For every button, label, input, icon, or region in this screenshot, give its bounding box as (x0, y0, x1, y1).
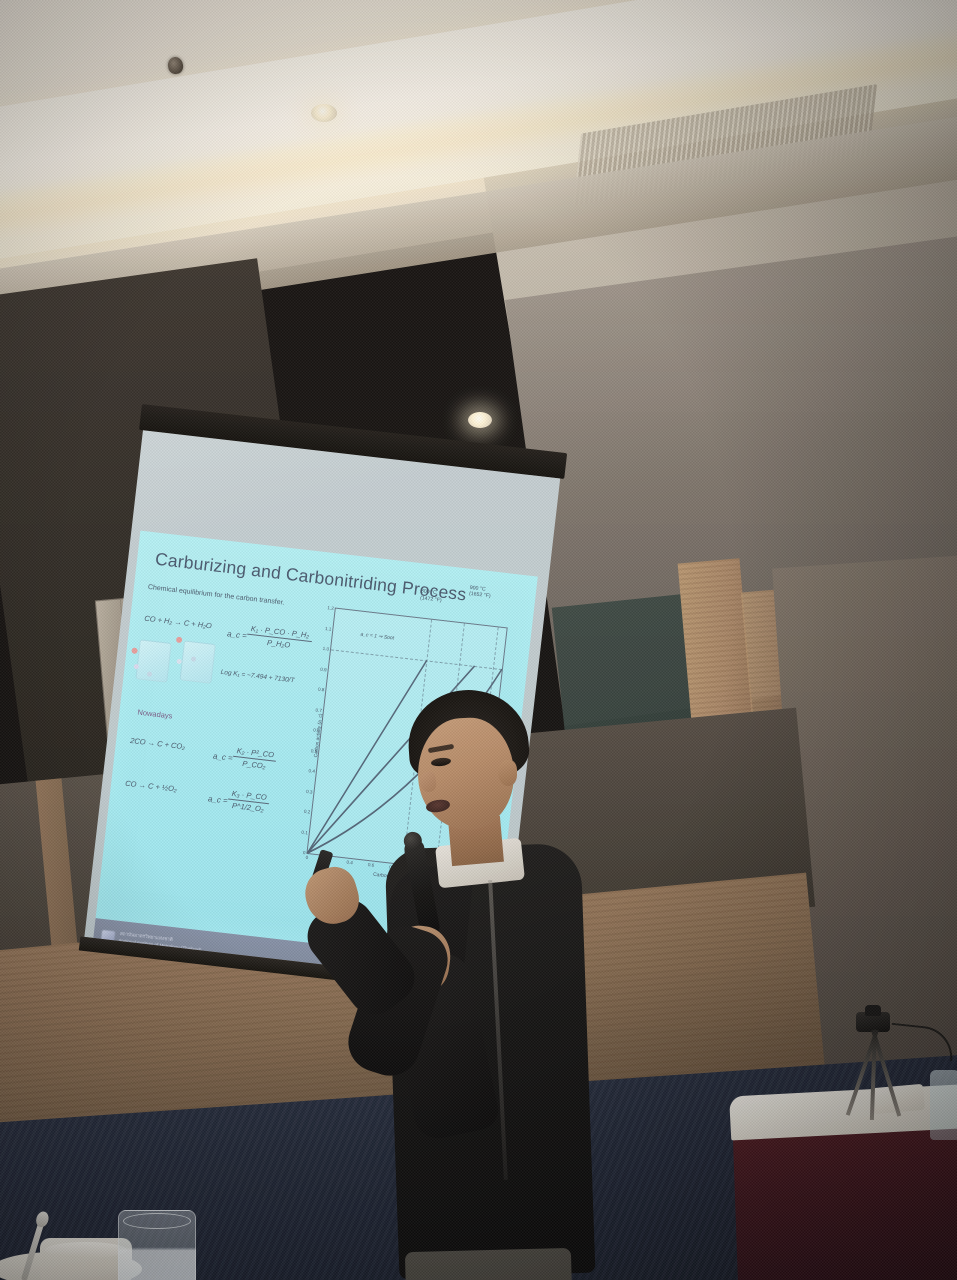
chart-ytick: 1.1 (325, 626, 332, 632)
activity-2-fraction: K₂ · P²_CO P_CO₂ (232, 746, 278, 772)
camera-tripod-icon (842, 1012, 912, 1120)
slide-subhead: Chemical equilibrium for the carbon tran… (148, 584, 285, 607)
presenter (300, 690, 630, 1280)
water-glass-icon (118, 1210, 196, 1280)
curve-label-800c: 800 °C (1472 °F) (420, 589, 443, 604)
curve-label-900c: 900 °C (1652 °F) (469, 585, 492, 600)
reaction-2: 2CO → C + CO₂ (130, 736, 186, 751)
chart-ytick: 1.2 (327, 605, 334, 611)
activity-3-lhs: a_c = (208, 794, 229, 805)
downlight-icon (311, 104, 337, 122)
downlight-icon (468, 412, 492, 428)
reaction-3: CO → C + ½O₂ (125, 779, 178, 794)
activity-1-lhs: a_c = (227, 629, 248, 640)
molecule-diagram-left (135, 639, 171, 682)
molecule-diagram-right (180, 640, 216, 683)
log-k-equation: Log K₁ = −7.494 + 7130/T (220, 669, 294, 684)
reaction-1: CO + H₂ → C + H₂O (144, 614, 212, 631)
nowadays-label: Nowadays (137, 708, 173, 721)
presenter-ear (498, 760, 517, 786)
conference-presentation-photo: Carburizing and Carbonitriding Process C… (0, 0, 957, 1280)
activity-3-fraction: K₃ · P_CO P^1/2_O₂ (227, 789, 270, 815)
chart-ytick: 0.9 (320, 666, 327, 672)
chart-ytick: 1.0 (322, 646, 329, 652)
water-bottle-icon (930, 1070, 957, 1140)
activity-2-lhs: a_c = (212, 752, 233, 763)
presenter-trousers (405, 1248, 577, 1280)
